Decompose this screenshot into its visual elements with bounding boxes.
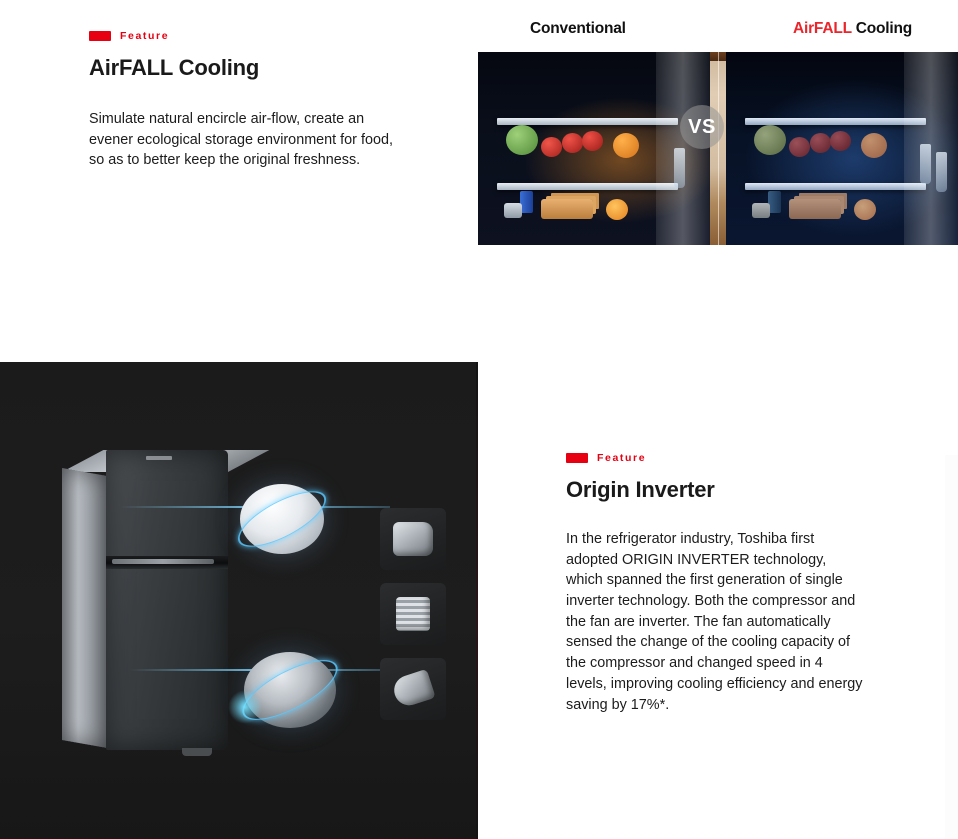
feature-tag-label: Feature xyxy=(597,453,646,464)
bottle xyxy=(936,152,947,192)
component-thumbnail-list xyxy=(380,508,446,733)
shelf-lower xyxy=(497,183,678,190)
fridge-side-panel xyxy=(62,468,108,748)
compressor-glow-highlight xyxy=(228,690,262,724)
fridge-front-doors xyxy=(106,450,228,750)
comparison-headers: Conventional AirFALL Cooling xyxy=(478,20,958,52)
fridge-handle xyxy=(112,559,214,564)
inverter-fan-motor-orb xyxy=(240,484,324,554)
tomato xyxy=(562,133,583,153)
component-thumbnail-fan[interactable] xyxy=(380,658,446,720)
conventional-label: Conventional xyxy=(530,20,626,38)
airfall-cooling-label: AirFALL Cooling xyxy=(793,20,912,38)
component-thumbnail-coil[interactable] xyxy=(380,583,446,645)
vs-badge: VS xyxy=(680,105,724,149)
shelf-upper xyxy=(497,118,678,125)
product-feature-page: Feature AirFALL Cooling Simulate natural… xyxy=(0,0,958,839)
bread-slices xyxy=(541,199,593,219)
tomato xyxy=(789,137,810,157)
broccoli xyxy=(754,125,786,155)
tomato xyxy=(830,131,851,151)
tomato xyxy=(541,137,562,157)
citrus-half xyxy=(606,199,628,220)
tomato xyxy=(582,131,603,151)
origin-inverter-body: In the refrigerator industry, Toshiba fi… xyxy=(566,529,866,716)
origin-inverter-text-block: Feature Origin Inverter In the refrigera… xyxy=(566,453,866,715)
comparison-divider xyxy=(710,52,726,245)
feature-chip-icon xyxy=(89,31,111,41)
fridge-interior-comparison-photo: VS xyxy=(478,52,958,245)
citrus-half xyxy=(854,199,876,220)
orange xyxy=(861,133,887,158)
fridge-base xyxy=(182,748,212,756)
airfall-comparison-media: Conventional AirFALL Cooling xyxy=(478,20,958,245)
beverage-can xyxy=(768,191,781,213)
airfall-label-accent: AirFALL xyxy=(793,20,852,37)
jar xyxy=(504,203,522,218)
bread-slices xyxy=(789,199,841,219)
door-shelf-column xyxy=(904,52,958,245)
airfall-title: AirFALL Cooling xyxy=(89,55,399,80)
feature-tag-airfall: Feature xyxy=(89,31,399,42)
airfall-interior xyxy=(726,52,958,245)
conventional-interior xyxy=(478,52,710,245)
feature-tag-label: Feature xyxy=(120,31,169,42)
feature-tag-origin-inverter: Feature xyxy=(566,453,866,464)
shelf-upper xyxy=(745,118,926,125)
coil-part-icon xyxy=(396,597,430,631)
bottle xyxy=(674,148,685,188)
shelf-lower xyxy=(745,183,926,190)
airfall-label-rest: Cooling xyxy=(852,20,912,37)
orange xyxy=(613,133,639,158)
jar xyxy=(752,203,770,218)
right-edge-strip xyxy=(945,455,958,839)
airfall-text-block: Feature AirFALL Cooling Simulate natural… xyxy=(89,31,399,171)
component-thumbnail-motor[interactable] xyxy=(380,508,446,570)
fan-part-icon xyxy=(390,669,435,709)
beverage-can xyxy=(520,191,533,213)
bottle xyxy=(920,144,931,184)
airfall-body: Simulate natural encircle air-flow, crea… xyxy=(89,109,399,171)
feature-chip-icon xyxy=(566,453,588,463)
tomato xyxy=(810,133,831,153)
motor-part-icon xyxy=(393,522,433,556)
fridge-brand-logo xyxy=(146,456,172,460)
broccoli xyxy=(506,125,538,155)
origin-inverter-title: Origin Inverter xyxy=(566,477,866,502)
